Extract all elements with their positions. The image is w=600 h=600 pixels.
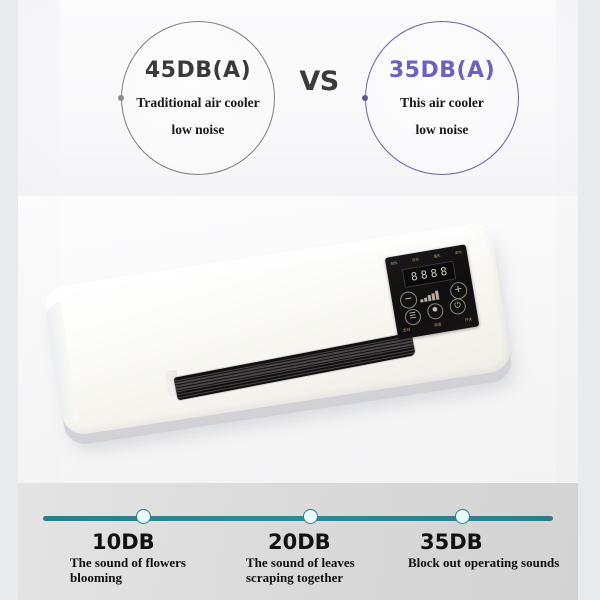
scale-db-description: The sound of flowers blooming [70, 555, 220, 585]
level-bar [424, 297, 427, 302]
panel-top-label: 制热 [390, 260, 398, 268]
display-digit: 8 [429, 267, 439, 280]
vent-louver [176, 343, 414, 390]
panel-bottom-label: 开关 [464, 315, 473, 324]
panel-bottom-label: 调温 [433, 320, 442, 329]
panel-bottom-label: 定时 [402, 326, 411, 335]
product-photo-section: 制热送风摆风定时 8888 − + ☰ ✹ ⏻ 定时调温开关 [18, 196, 578, 483]
scale-db-description: The sound of leaves scraping together [246, 555, 396, 585]
traditional-desc-line2: low noise [172, 123, 225, 137]
vent-louver [176, 346, 414, 393]
scale-db-value: 10DB [92, 531, 220, 554]
scale-label-group: 20DBThe sound of leaves scraping togethe… [246, 531, 396, 585]
decibel-scale-section: 10DBThe sound of flowers blooming20DBThe… [18, 483, 578, 600]
traditional-desc-line1: Traditional air cooler [136, 96, 259, 110]
power-button[interactable]: ⏻ [449, 297, 467, 315]
scale-marker-dot[interactable] [136, 509, 151, 524]
this-cooler-desc-line1: This air cooler [400, 96, 484, 110]
product-detail-page: 45DB(A) Traditional air cooler low noise… [0, 0, 600, 600]
level-bar [420, 299, 423, 302]
this-cooler-desc-line2: low noise [416, 123, 469, 137]
traditional-circle-marker-dot [118, 95, 124, 101]
scale-db-value: 20DB [268, 531, 396, 554]
traditional-db-value: 45DB(A) [145, 60, 251, 82]
panel-top-label: 定时 [455, 249, 463, 257]
right-edge-strip [578, 0, 600, 600]
scale-label-group: 10DBThe sound of flowers blooming [70, 531, 220, 585]
product-image: 制热送风摆风定时 8888 − + ☰ ✹ ⏻ 定时调温开关 [18, 196, 578, 483]
fan-button[interactable]: ✹ [426, 302, 444, 320]
this-cooler-circle-marker-dot [362, 95, 368, 101]
scale-db-value: 35DB [420, 531, 588, 554]
product-left-edge [45, 302, 79, 423]
panel-top-label: 送风 [412, 256, 420, 264]
scale-label-group: 35DBBlock out operating sounds [408, 531, 588, 570]
scale-marker-dot[interactable] [303, 509, 318, 524]
display-digit: 8 [409, 270, 419, 283]
noise-comparison-section: 45DB(A) Traditional air cooler low noise… [18, 0, 578, 196]
scale-db-description: Block out operating sounds [408, 555, 588, 570]
decibel-scale-line [43, 516, 553, 521]
left-edge-strip [0, 0, 18, 600]
control-panel[interactable]: 制热送风摆风定时 8888 − + ☰ ✹ ⏻ 定时调温开关 [385, 244, 480, 340]
product-front-face: 制热送风摆风定时 8888 − + ☰ ✹ ⏻ 定时调温开关 [43, 221, 512, 437]
level-bar [428, 295, 432, 301]
panel-top-label: 摆风 [433, 253, 441, 261]
this-cooler-circle: 35DB(A) This air cooler low noise [365, 21, 519, 175]
level-bar [432, 293, 436, 301]
this-cooler-db-value: 35DB(A) [389, 60, 495, 82]
level-bar [435, 291, 439, 300]
display-digit: 8 [419, 269, 429, 282]
air-cooler-unit: 制热送风摆风定时 8888 − + ☰ ✹ ⏻ 定时调温开关 [43, 221, 513, 439]
vent-louver [175, 341, 413, 388]
level-indicator-bars [419, 289, 446, 302]
vs-label: VS [299, 66, 339, 97]
display-digit: 8 [439, 265, 449, 278]
traditional-cooler-circle: 45DB(A) Traditional air cooler low noise [121, 21, 275, 175]
vent-louver [175, 338, 413, 385]
scale-marker-dot[interactable] [455, 509, 470, 524]
